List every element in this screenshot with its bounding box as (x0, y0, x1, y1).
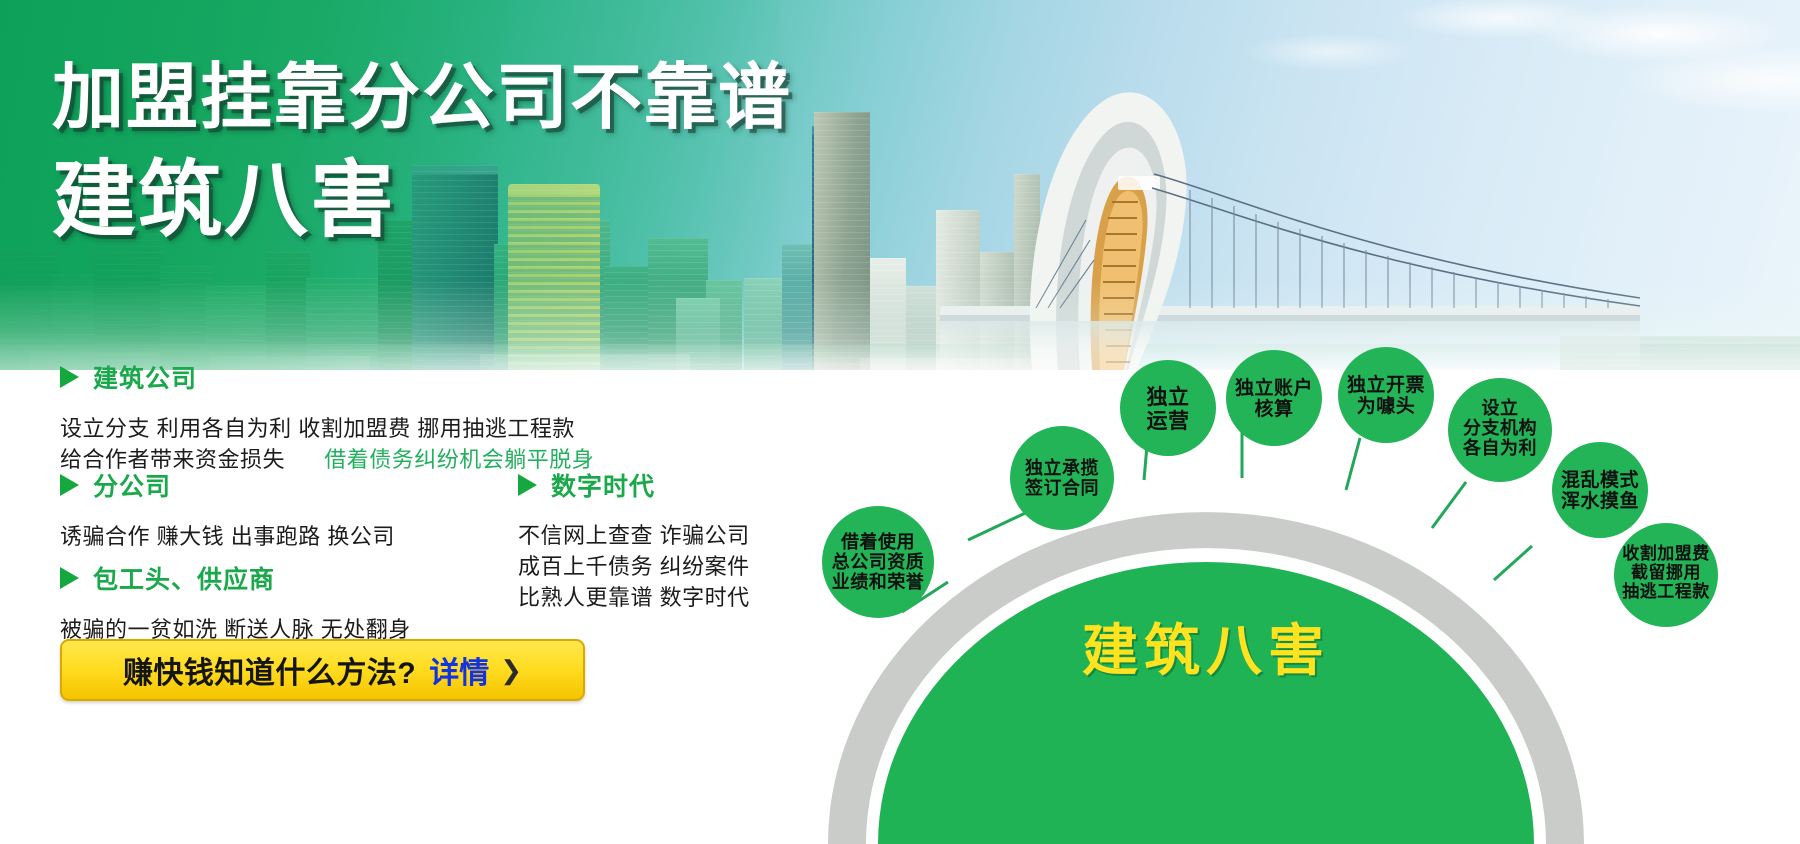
bubble-independent-contracting (1010, 426, 1114, 530)
page-title-line-2: 建筑八害 (52, 158, 792, 242)
triangle-bullet-icon (60, 474, 79, 496)
triangle-bullet-icon (60, 366, 79, 388)
bubble-use-hq-credentials (822, 506, 934, 618)
bubble-independent-invoicing (1338, 347, 1434, 443)
section-heading-label: 数字时代 (551, 467, 655, 503)
cta-main-label: 赚快钱知道什么方法? (123, 648, 416, 692)
body-line: 不信网上查查 诈骗公司 (518, 520, 750, 551)
section-heading-digital-era: 数字时代 (518, 467, 750, 503)
details-cta-button[interactable]: 赚快钱知道什么方法? 详情 ❯ (60, 639, 585, 701)
page-title-line-1: 加盟挂靠分公司不靠谱 (52, 62, 792, 134)
body-text: 比熟人更靠谱 数字时代 (518, 585, 750, 610)
body-text: 不信网上查查 诈骗公司 (518, 523, 750, 548)
bubble-set-up-branches (1448, 378, 1552, 482)
body-line: 比熟人更靠谱 数字时代 (518, 582, 750, 613)
left-content-panel: 建筑公司 设立分支 利用各自为利 收割加盟费 挪用抽逃工程款 给合作者带来资金损… (0, 372, 790, 844)
diagram-canvas (790, 330, 1800, 844)
hero-title-block: 加盟挂靠分公司不靠谱 建筑八害 (52, 62, 792, 242)
section-heading-contractor-supplier: 包工头、供应商 (60, 560, 411, 596)
body-text: 设立分支 利用各自为利 收割加盟费 挪用抽逃工程款 (60, 416, 575, 441)
triangle-bullet-icon (60, 567, 79, 589)
eight-harms-diagram: 借着使用 总公司资质 业绩和荣誉 独立承揽 签订合同 独立 运营 独立账户 核算… (790, 330, 1800, 844)
section-heading-label: 建筑公司 (93, 359, 197, 395)
bubble-harvest-franchise-fee (1614, 523, 1718, 627)
body-text: 诱骗合作 赚大钱 出事跑路 换公司 (60, 524, 395, 549)
section-heading-label: 分公司 (93, 467, 171, 503)
bubble-chaotic-model (1552, 442, 1648, 538)
section-branch-company: 分公司 诱骗合作 赚大钱 出事跑路 换公司 (60, 467, 395, 552)
bubble-independent-operation (1120, 360, 1216, 456)
section-heading-label: 包工头、供应商 (93, 560, 275, 596)
section-construction-company: 建筑公司 设立分支 利用各自为利 收割加盟费 挪用抽逃工程款 给合作者带来资金损… (60, 359, 594, 475)
section-heading-branch-company: 分公司 (60, 467, 395, 503)
bubble-independent-account (1226, 350, 1322, 446)
chevron-right-icon: ❯ (500, 655, 522, 686)
hero-banner: 加盟挂靠分公司不靠谱 建筑八害 (0, 0, 1800, 370)
body-line: 设立分支 利用各自为利 收割加盟费 挪用抽逃工程款 (60, 413, 594, 444)
section-contractor-supplier: 包工头、供应商 被骗的一贫如洗 断送人脉 无处翻身 (60, 560, 411, 645)
body-text: 成百上千债务 纠纷案件 (518, 554, 750, 579)
cta-link-label[interactable]: 详情 (429, 648, 489, 692)
section-digital-era: 数字时代 不信网上查查 诈骗公司 成百上千债务 纠纷案件 比熟人更靠谱 数字时代 (518, 467, 750, 614)
triangle-bullet-icon (518, 474, 537, 496)
body-line: 成百上千债务 纠纷案件 (518, 551, 750, 582)
body-line: 诱骗合作 赚大钱 出事跑路 换公司 (60, 521, 395, 552)
section-heading-construction-company: 建筑公司 (60, 359, 594, 395)
